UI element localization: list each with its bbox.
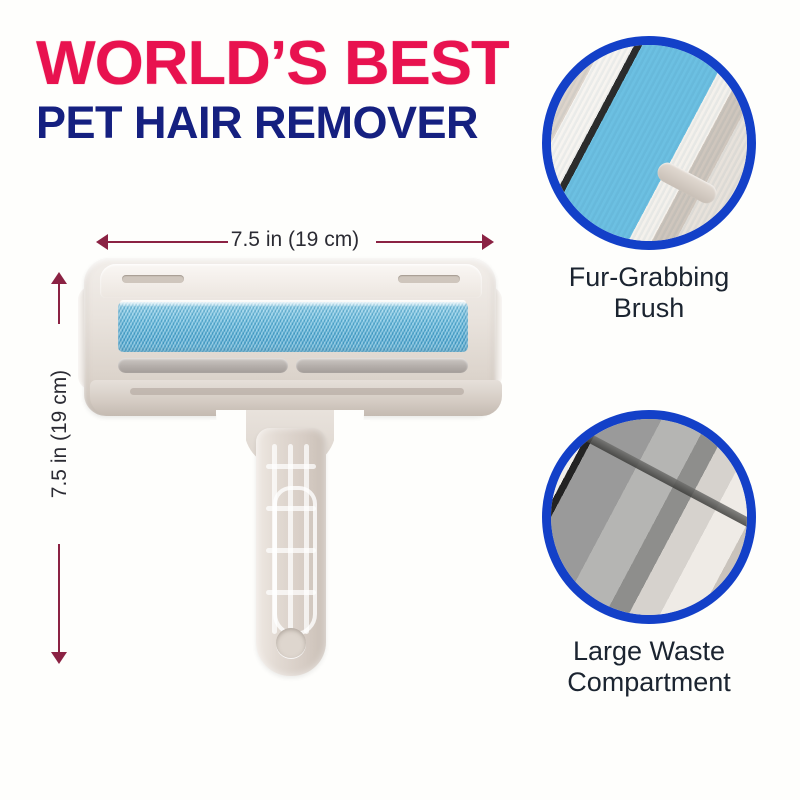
- handle-rib-horizontal: [266, 464, 316, 469]
- callout-caption-brush-line2: Brush: [542, 293, 756, 324]
- roller-head: [84, 258, 496, 416]
- handle-body: [256, 428, 326, 676]
- base-slot: [130, 388, 464, 395]
- callout-caption-compartment-line2: Compartment: [542, 667, 756, 698]
- product-image: [78, 258, 502, 678]
- brush-highlight: [120, 300, 466, 306]
- product-infographic-canvas: WORLD’S BEST PET HAIR REMOVER 7.5 in (19…: [0, 0, 800, 800]
- gray-bar-right: [296, 358, 468, 373]
- headline-primary: WORLD’S BEST: [36, 34, 526, 94]
- height-dimension: 7.5 in (19 cm): [38, 272, 80, 664]
- width-dimension-label: 7.5 in (19 cm): [96, 228, 494, 252]
- roller-top-lip: [100, 264, 482, 298]
- headline-secondary: PET HAIR REMOVER: [36, 100, 516, 146]
- headline-block: WORLD’S BEST PET HAIR REMOVER: [36, 34, 516, 145]
- callout-large-waste-compartment: Large Waste Compartment: [542, 410, 756, 698]
- callout-caption-compartment-line1: Large Waste: [542, 636, 756, 667]
- height-dimension-label: 7.5 in (19 cm): [46, 324, 74, 544]
- lip-slot-left: [122, 275, 184, 283]
- callout-fur-grabbing-brush: Fur-Grabbing Brush: [542, 36, 756, 324]
- brush-texture-overlay: [542, 36, 756, 250]
- callout-circle-compartment: [542, 410, 756, 624]
- callout-caption-brush: Fur-Grabbing Brush: [542, 262, 756, 324]
- fur-brush-strip: [118, 302, 468, 352]
- handle-inner-oval: [273, 486, 317, 636]
- callout-circle-brush: [542, 36, 756, 250]
- arrow-down-icon: [51, 652, 67, 664]
- lip-slot-right: [398, 275, 460, 283]
- handle-hang-hole: [276, 628, 306, 658]
- width-dimension: 7.5 in (19 cm): [96, 222, 494, 262]
- gray-bar-left: [118, 358, 288, 373]
- compartment-closeup-art: [542, 410, 756, 624]
- callout-caption-brush-line1: Fur-Grabbing: [542, 262, 756, 293]
- callout-caption-compartment: Large Waste Compartment: [542, 636, 756, 698]
